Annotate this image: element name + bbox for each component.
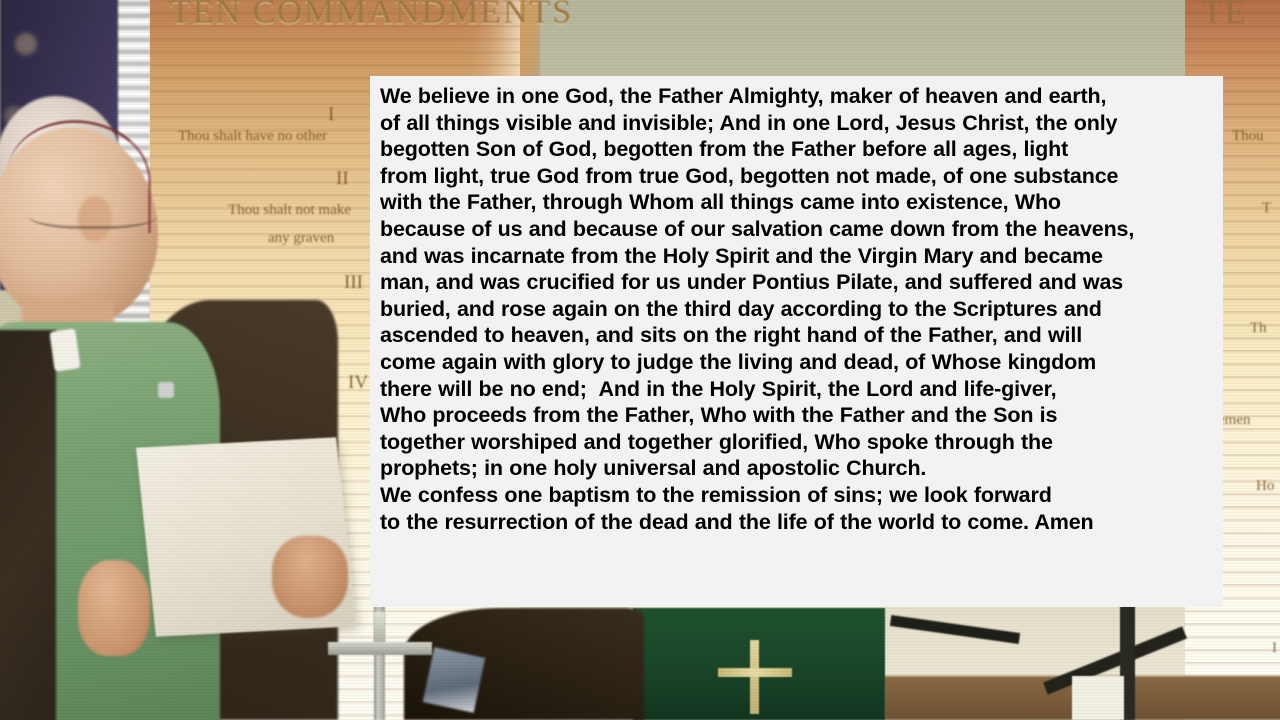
processional-cross-crossbar-icon (328, 642, 432, 655)
banner-right-line-6: I (1272, 640, 1277, 657)
caption-text: We believe in one God, the Father Almigh… (380, 83, 1213, 535)
altar-cross-crossbar-icon (718, 668, 792, 677)
banner-line-1: Thou shalt have no other (178, 128, 327, 145)
banner-right-line-1: Thou (1232, 128, 1264, 145)
banner-right-title: TE (1202, 0, 1248, 32)
banner-right-line-4: Ho (1256, 478, 1274, 495)
banner-numeral-3: III (344, 272, 363, 294)
banner-numeral-2: II (336, 168, 349, 190)
banner-title: TEN COMMANDMENTS (170, 0, 573, 32)
altar-cross-icon (750, 640, 759, 714)
speaker-left-hand (78, 560, 150, 656)
banner-line-3: any graven (268, 230, 334, 247)
caption-overlay-panel: We believe in one God, the Father Almigh… (370, 76, 1223, 607)
banner-numeral-1: I (328, 104, 334, 126)
banner-right-line-5: Th (1250, 320, 1267, 337)
banner-right-line-2: T (1262, 200, 1271, 217)
speaker-glasses (28, 196, 158, 229)
video-frame: TEN COMMANDMENTS I Thou shalt have no ot… (0, 0, 1280, 720)
banner-numeral-4: IV (348, 372, 368, 394)
altar-frontal (633, 608, 885, 720)
white-box (1072, 676, 1124, 720)
speaker-right-hand (272, 536, 348, 618)
banner-line-2: Thou shalt not make (228, 202, 351, 219)
lapel-pin (158, 382, 174, 398)
speaker-jacket-left (0, 330, 56, 720)
speaker-clerical-collar (49, 328, 80, 371)
